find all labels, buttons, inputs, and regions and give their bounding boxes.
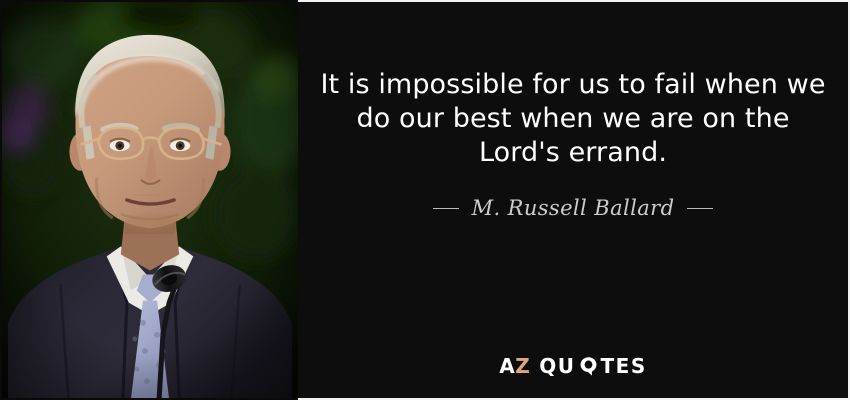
logo-letter-z: Z [515, 356, 530, 376]
quote-panel: It is impossible for us to fail when we … [298, 0, 850, 400]
portrait-image [2, 2, 298, 398]
attribution-author: M. Russell Ballard [472, 196, 675, 220]
quote-text: It is impossible for us to fail when we … [298, 68, 848, 170]
logo-word-part-1: QU [539, 356, 575, 376]
logo-quotes-word: QU TES [539, 355, 646, 376]
attribution-dash-right [687, 208, 713, 209]
attribution-dash-left [433, 208, 459, 209]
logo-word-part-2: TES [601, 356, 647, 376]
attribution: M. Russell Ballard [298, 196, 848, 220]
logo-letter-a: A [499, 356, 515, 376]
quote-card: It is impossible for us to fail when we … [0, 0, 850, 400]
speech-bubble-o-icon [579, 356, 598, 377]
azquotes-logo[interactable]: AZ QU TES [298, 355, 848, 376]
logo-az-mark: AZ [499, 356, 530, 376]
author-portrait [0, 0, 298, 400]
